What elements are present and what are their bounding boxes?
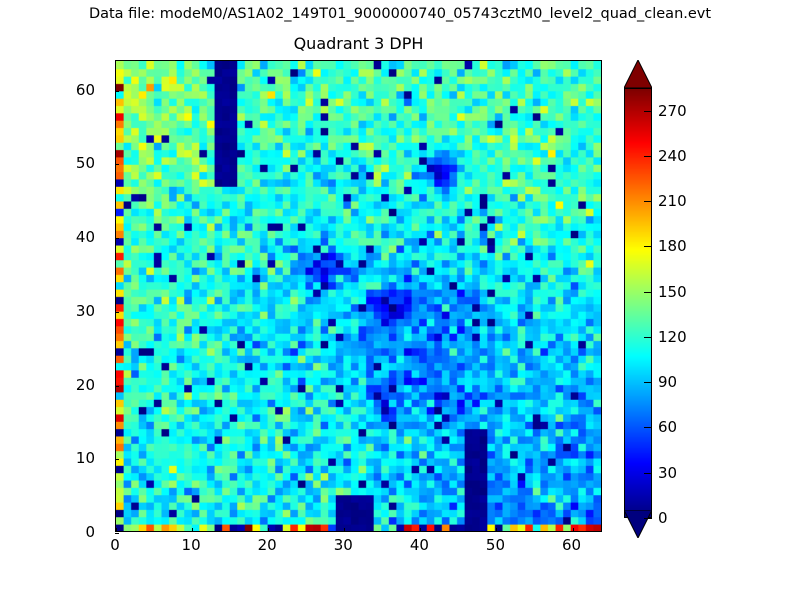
- x-axis-tick-label: 60: [562, 536, 581, 554]
- colorbar-tick-label: 120: [658, 328, 687, 346]
- x-axis-tick: [116, 528, 117, 532]
- colorbar-tick: [644, 337, 652, 338]
- y-axis-tick-label: 10: [55, 449, 103, 467]
- colorbar-tick: [644, 111, 652, 112]
- colorbar-tick: [644, 292, 652, 293]
- y-axis-tick-label: 30: [55, 302, 103, 320]
- colorbar-tick-label: 90: [658, 373, 677, 391]
- y-axis-tick: [115, 459, 119, 460]
- colorbar[interactable]: 0306090120150180210240270: [624, 60, 652, 538]
- y-axis-tick: [115, 386, 119, 387]
- x-axis-tick-label: 0: [110, 536, 120, 554]
- colorbar-tick-label: 60: [658, 418, 677, 436]
- colorbar-gradient: [625, 89, 651, 517]
- y-axis-tick: [115, 164, 119, 165]
- colorbar-tick-label: 270: [658, 102, 687, 120]
- x-axis-tick: [192, 528, 193, 532]
- data-file-label: Data file: modeM0/AS1A02_149T01_90000007…: [0, 6, 800, 22]
- x-axis-tick: [268, 528, 269, 532]
- colorbar-extend-max-arrow: [624, 60, 652, 88]
- colorbar-tick: [644, 473, 652, 474]
- colorbar-gradient-body: [624, 88, 652, 518]
- page-title: Quadrant 3 DPH: [115, 34, 602, 53]
- heatmap-image: [116, 61, 601, 531]
- colorbar-tick: [644, 156, 652, 157]
- colorbar-tick-label: 240: [658, 147, 687, 165]
- x-axis-tick: [573, 528, 574, 532]
- colorbar-tick-label: 210: [658, 192, 687, 210]
- colorbar-tick-label: 150: [658, 283, 687, 301]
- x-axis-tick-label: 40: [410, 536, 429, 554]
- x-axis-tick-label: 20: [258, 536, 277, 554]
- colorbar-tick-label: 180: [658, 237, 687, 255]
- heatmap-axes[interactable]: [115, 60, 602, 532]
- y-axis-tick-label: 0: [55, 523, 103, 541]
- y-axis-tick: [115, 533, 119, 534]
- colorbar-tick: [644, 382, 652, 383]
- y-axis-tick-label: 40: [55, 228, 103, 246]
- colorbar-extend-min-arrow: [624, 510, 652, 538]
- x-axis-tick-label: 10: [182, 536, 201, 554]
- y-axis-tick-label: 50: [55, 154, 103, 172]
- figure-canvas: Data file: modeM0/AS1A02_149T01_90000007…: [0, 0, 800, 600]
- y-axis-tick: [115, 91, 119, 92]
- colorbar-tick: [644, 427, 652, 428]
- y-axis-tick: [115, 312, 119, 313]
- x-axis-tick: [420, 528, 421, 532]
- y-axis-tick-label: 20: [55, 376, 103, 394]
- colorbar-tick: [644, 246, 652, 247]
- colorbar-tick-label: 0: [658, 509, 668, 527]
- x-axis-tick-label: 50: [486, 536, 505, 554]
- x-axis-tick-label: 30: [334, 536, 353, 554]
- y-axis-tick-label: 60: [55, 81, 103, 99]
- x-axis-tick: [496, 528, 497, 532]
- colorbar-tick-label: 30: [658, 464, 677, 482]
- colorbar-tick: [644, 201, 652, 202]
- y-axis-tick: [115, 238, 119, 239]
- x-axis-tick: [344, 528, 345, 532]
- colorbar-tick: [644, 518, 652, 519]
